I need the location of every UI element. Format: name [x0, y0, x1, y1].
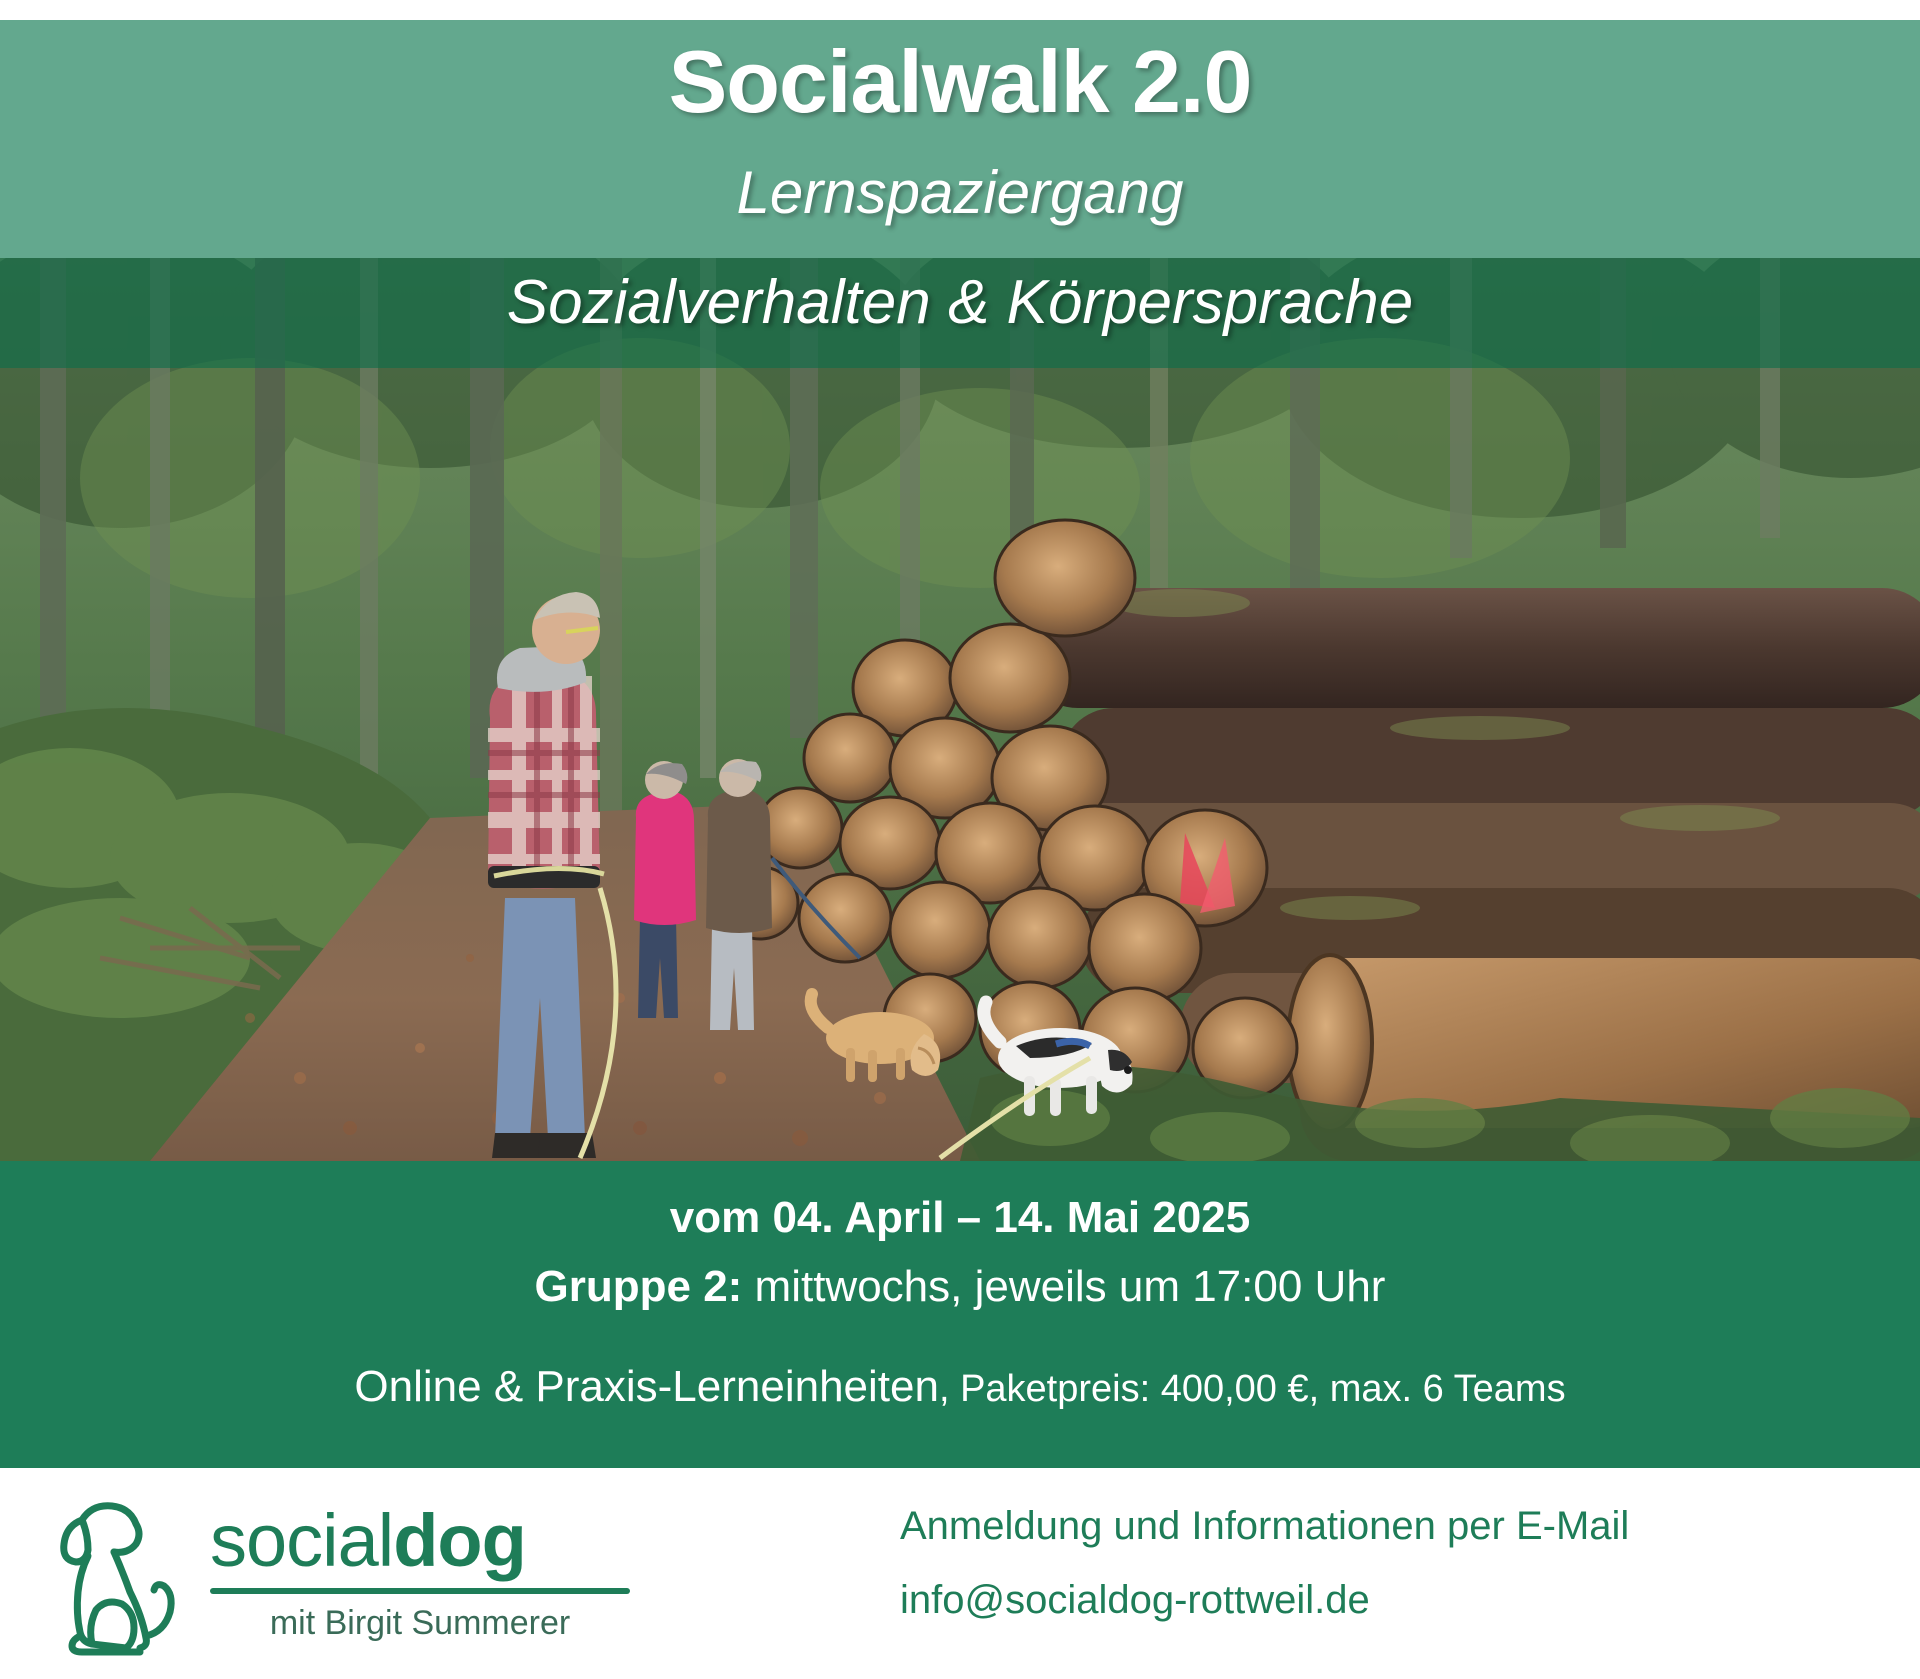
price-capacity: , Paketpreis: 400,00 €, max. 6 Teams — [939, 1368, 1566, 1410]
logo-tagline: mit Birgit Summerer — [210, 1606, 630, 1640]
logo-name-heavy: dog — [393, 1499, 526, 1582]
top-white-margin — [0, 0, 1920, 20]
brand-logo[interactable]: socialdog mit Birgit Summerer — [30, 1486, 630, 1661]
forest-scene-illustration — [0, 258, 1920, 1161]
course-format: Online & Praxis-Lerneinheiten — [354, 1362, 939, 1411]
hero-photo — [0, 258, 1920, 1161]
logo-wordmark: socialdog mit Birgit Summerer — [210, 1486, 630, 1640]
contact-instruction: Anmeldung und Informationen per E-Mail — [900, 1506, 1629, 1546]
subtitle-secondary: Sozialverhalten & Körpersprache — [0, 272, 1920, 334]
group-schedule: mittwochs, jeweils um 17:00 Uhr — [742, 1262, 1385, 1311]
poster-root: Socialwalk 2.0 Lernspaziergang — [0, 0, 1920, 1679]
group-label: Gruppe 2: — [535, 1262, 743, 1311]
format-price-line: Online & Praxis-Lerneinheiten, Paketprei… — [0, 1365, 1920, 1409]
subtitle-primary: Lernspaziergang — [0, 163, 1920, 223]
contact-block: Anmeldung und Informationen per E-Mail i… — [900, 1506, 1629, 1654]
info-band: vom 04. April – 14. Mai 2025 Gruppe 2: m… — [0, 1161, 1920, 1468]
footer: socialdog mit Birgit Summerer Anmeldung … — [0, 1468, 1920, 1679]
contact-email[interactable]: info@socialdog-rottweil.de — [900, 1580, 1629, 1620]
group-schedule-line: Gruppe 2: mittwochs, jeweils um 17:00 Uh… — [0, 1265, 1920, 1309]
logo-divider — [210, 1588, 630, 1594]
sitting-dog-outline-icon — [30, 1486, 190, 1661]
event-dates: vom 04. April – 14. Mai 2025 — [0, 1196, 1920, 1240]
logo-name-light: social — [210, 1499, 393, 1582]
page-title: Socialwalk 2.0 — [0, 38, 1920, 126]
